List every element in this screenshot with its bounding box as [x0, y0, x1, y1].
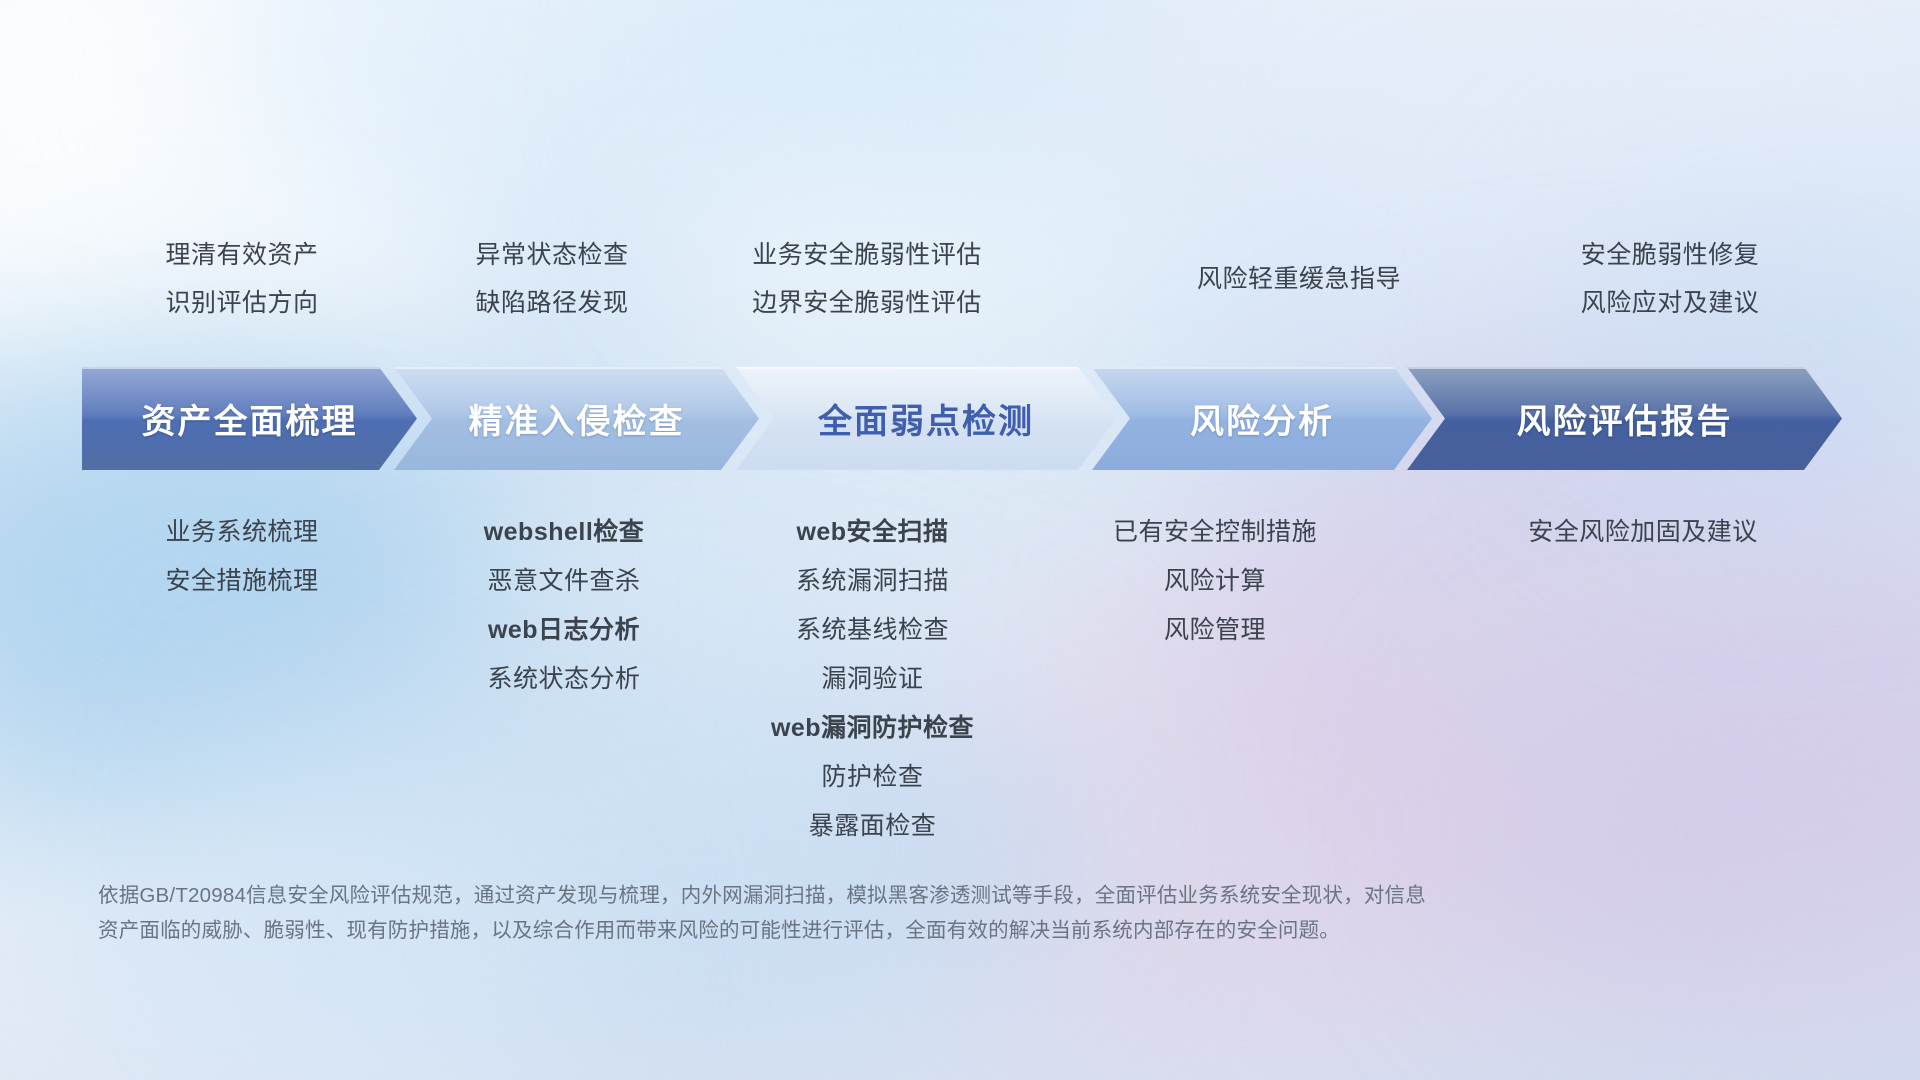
list-item: 系统漏洞扫描: [705, 557, 1040, 606]
list-item: web漏洞防护检查: [705, 704, 1040, 753]
top-item: 安全脆弱性修复: [1500, 231, 1840, 279]
list-item: 业务系统梳理: [82, 508, 402, 557]
chevron-stage-asset-inventory[interactable]: 资产全面梳理: [82, 367, 417, 470]
list-item: 安全风险加固及建议: [1453, 508, 1833, 557]
chevron-band: 资产全面梳理 精准入侵检查 全面弱点检测 风险分析 风险评估报告: [82, 367, 1842, 470]
chevron-stage-intrusion-check[interactable]: 精准入侵检查: [394, 367, 759, 470]
top-item: 风险轻重缓急指导: [1134, 255, 1464, 303]
list-item: 风险计算: [1045, 557, 1385, 606]
stage-bottom-items-weakness-detection: web安全扫描 系统漏洞扫描 系统基线检查 漏洞验证 web漏洞防护检查 防护检…: [705, 508, 1040, 851]
top-item: 识别评估方向: [82, 279, 402, 327]
footer-line: 依据GB/T20984信息安全风险评估规范，通过资产发现与梳理，内外网漏洞扫描，…: [98, 878, 1618, 913]
list-item: 恶意文件查杀: [404, 557, 724, 606]
stage-top-labels-asset-inventory: 理清有效资产 识别评估方向: [82, 231, 402, 327]
chevron-top-edge: [82, 367, 417, 369]
chevron-top-edge: [736, 367, 1116, 369]
chevron-top-edge: [1092, 367, 1432, 369]
chevron-label: 风险分析: [1190, 394, 1334, 443]
chevron-top-edge: [1407, 367, 1842, 369]
list-item: web日志分析: [404, 606, 724, 655]
list-item: 防护检查: [705, 753, 1040, 802]
chevron-label: 风险评估报告: [1517, 394, 1733, 443]
chevron-stage-risk-analysis[interactable]: 风险分析: [1092, 367, 1432, 470]
top-item: 业务安全脆弱性评估: [672, 231, 1062, 279]
chevron-stage-weakness-detection[interactable]: 全面弱点检测: [736, 367, 1116, 470]
chevron-label: 资产全面梳理: [142, 394, 358, 443]
chevron-label: 精准入侵检查: [469, 394, 685, 443]
top-item: 风险应对及建议: [1500, 279, 1840, 327]
list-item: 系统状态分析: [404, 655, 724, 704]
stage-bottom-items-assessment-report: 安全风险加固及建议: [1453, 508, 1833, 557]
top-item: 边界安全脆弱性评估: [672, 279, 1062, 327]
list-item: 安全措施梳理: [82, 557, 402, 606]
chevron-stage-assessment-report[interactable]: 风险评估报告: [1407, 367, 1842, 470]
list-item: 系统基线检查: [705, 606, 1040, 655]
list-item: 漏洞验证: [705, 655, 1040, 704]
footer-description: 依据GB/T20984信息安全风险评估规范，通过资产发现与梳理，内外网漏洞扫描，…: [98, 878, 1618, 948]
chevron-top-edge: [394, 367, 759, 369]
process-flow-diagram: 理清有效资产 识别评估方向 异常状态检查 缺陷路径发现 业务安全脆弱性评估 边界…: [0, 0, 1920, 1080]
list-item: webshell检查: [404, 508, 724, 557]
chevron-label: 全面弱点检测: [818, 394, 1034, 443]
footer-line: 资产面临的威胁、脆弱性、现有防护措施，以及综合作用而带来风险的可能性进行评估，全…: [98, 913, 1618, 948]
stage-bottom-items-risk-analysis: 已有安全控制措施 风险计算 风险管理: [1045, 508, 1385, 655]
top-item: 理清有效资产: [82, 231, 402, 279]
list-item: web安全扫描: [705, 508, 1040, 557]
stage-bottom-items-intrusion-check: webshell检查 恶意文件查杀 web日志分析 系统状态分析: [404, 508, 724, 704]
stage-top-labels-assessment-report: 安全脆弱性修复 风险应对及建议: [1500, 231, 1840, 327]
stage-top-labels-intrusion-check: 异常状态检查 缺陷路径发现: [392, 231, 712, 327]
top-item: 缺陷路径发现: [392, 279, 712, 327]
stage-top-labels-weakness-detection: 业务安全脆弱性评估 边界安全脆弱性评估: [672, 231, 1062, 327]
stage-top-labels-risk-analysis: 风险轻重缓急指导: [1134, 255, 1464, 303]
list-item: 已有安全控制措施: [1045, 508, 1385, 557]
top-item: 异常状态检查: [392, 231, 712, 279]
stage-bottom-items-asset-inventory: 业务系统梳理 安全措施梳理: [82, 508, 402, 606]
list-item: 暴露面检查: [705, 802, 1040, 851]
list-item: 风险管理: [1045, 606, 1385, 655]
